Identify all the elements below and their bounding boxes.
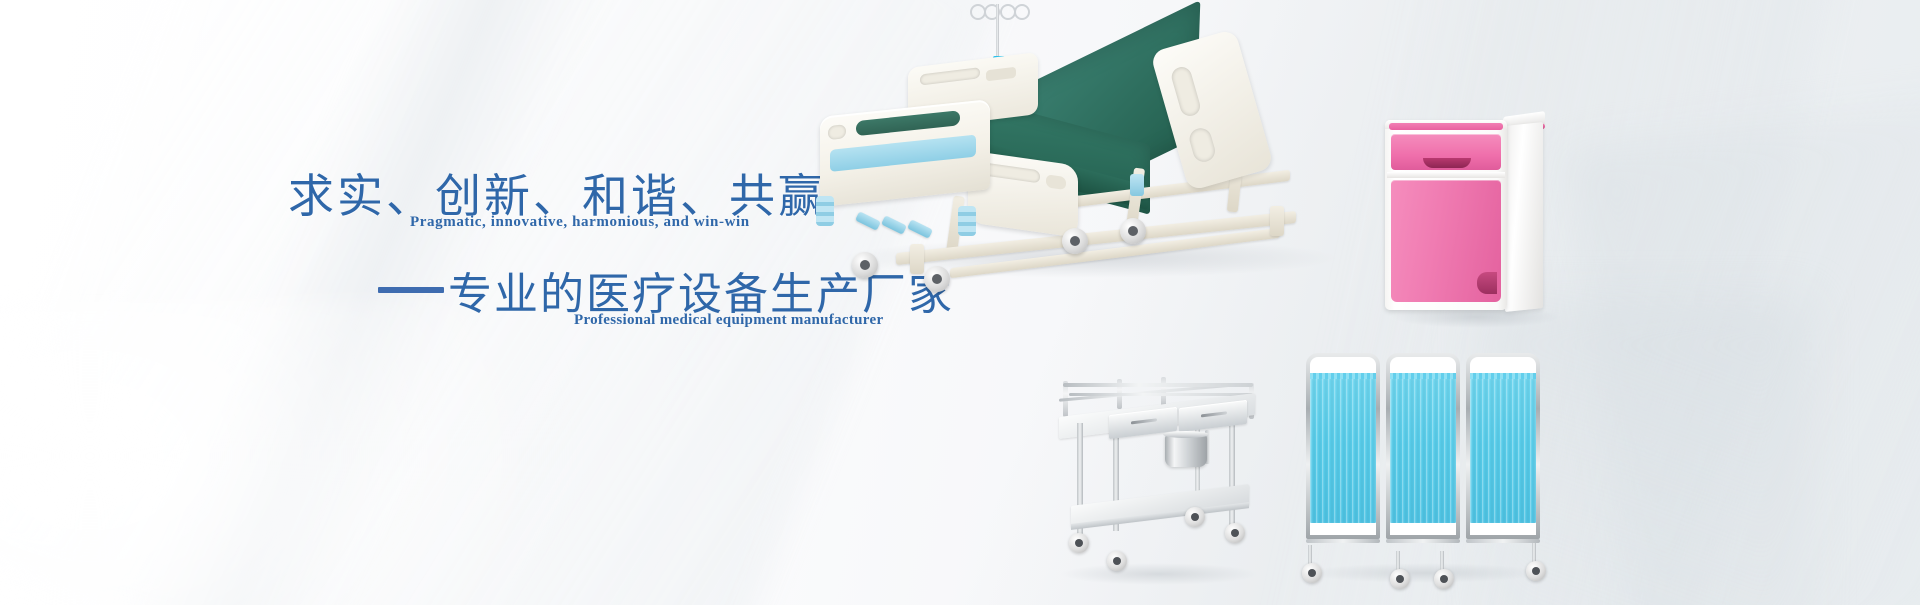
- screen-panel: [1306, 353, 1380, 553]
- rail-slot: [920, 67, 980, 85]
- headboard-slot: [828, 124, 846, 140]
- product-instrument-trolley: [1045, 375, 1280, 590]
- product-ward-screen: [1300, 345, 1550, 590]
- screen-caster-wheel: [1302, 563, 1322, 583]
- screen-curtain-header: [1390, 373, 1456, 379]
- screen-panel-foot: [1306, 539, 1380, 543]
- trolley-caster-wheel: [1185, 507, 1205, 527]
- trolley-guardrail: [1063, 383, 1253, 387]
- em-dash-rule: [378, 287, 444, 293]
- bed-caster-wheel: [924, 266, 950, 292]
- screen-curtain-header: [1310, 373, 1376, 379]
- bed-crank-handle: [881, 215, 907, 235]
- screen-panel: [1386, 353, 1460, 553]
- screen-caster-wheel: [1390, 569, 1410, 589]
- bed-caster-wheel: [852, 252, 878, 278]
- banner-copy: 求实、创新、和谐、共赢 Pragmatic, innovative, harmo…: [0, 0, 900, 605]
- hero-banner: 求实、创新、和谐、共赢 Pragmatic, innovative, harmo…: [0, 0, 1920, 605]
- screen-panel-foot: [1386, 539, 1460, 543]
- screen-panel: [1466, 353, 1540, 553]
- screen-curtain: [1390, 375, 1456, 523]
- trolley-drawer-handle: [1131, 418, 1157, 424]
- cabinet-drawer-handle: [1423, 158, 1471, 168]
- bed-caster-wheel: [1062, 228, 1088, 254]
- trolley-leg: [1229, 413, 1235, 529]
- bed-base-foot: [1270, 206, 1284, 236]
- subheadline-secondary: Professional medical equipment manufactu…: [574, 312, 883, 329]
- bed-footboard: [1150, 29, 1274, 192]
- cabinet-door-handle: [1477, 272, 1497, 294]
- cabinet-door: [1391, 180, 1501, 302]
- headboard-blue-panel: [830, 135, 976, 172]
- bed-headboard: [820, 99, 990, 207]
- cabinet-drawer: [1391, 134, 1501, 170]
- cabinet-side-panel: [1505, 122, 1543, 312]
- screen-shadow: [1304, 563, 1544, 583]
- footboard-slot: [1169, 65, 1202, 119]
- trolley-shadow: [1059, 563, 1259, 585]
- headboard-window: [856, 110, 960, 136]
- trolley-caster-wheel: [1069, 533, 1089, 553]
- bed-crank-handle: [855, 211, 881, 231]
- bed-corner-bumper: [816, 196, 834, 226]
- trolley-waste-bucket: [1165, 435, 1207, 467]
- rail-slot: [982, 162, 1040, 183]
- cabinet-top-accent: [1389, 123, 1503, 130]
- screen-caster-wheel: [1526, 561, 1546, 581]
- trolley-bucket-rim: [1163, 431, 1209, 438]
- product-bedside-cabinet: [1385, 98, 1565, 320]
- trolley-caster-wheel: [1107, 551, 1127, 571]
- bed-corner-bumper: [1130, 174, 1144, 196]
- rail-slot: [986, 67, 1016, 82]
- screen-caster-wheel: [1434, 569, 1454, 589]
- screen-panel-foot: [1466, 539, 1540, 543]
- bed-caster-wheel: [1120, 218, 1146, 244]
- trolley-drawer-handle: [1201, 411, 1227, 417]
- bed-corner-bumper: [958, 206, 976, 236]
- cabinet-divider: [1387, 172, 1505, 178]
- bed-base-foot: [910, 244, 924, 274]
- subheadline-primary: Pragmatic, innovative, harmonious, and w…: [410, 214, 750, 231]
- background-facet: [1566, 93, 1920, 605]
- trolley-caster-wheel: [1225, 523, 1245, 543]
- screen-curtain: [1310, 375, 1376, 523]
- footboard-slot: [1187, 126, 1218, 165]
- product-hospital-bed: [800, 0, 1400, 310]
- rail-slot: [1046, 174, 1066, 190]
- bed-crank-handle: [907, 219, 933, 239]
- screen-curtain-header: [1470, 373, 1536, 379]
- screen-curtain: [1470, 375, 1536, 523]
